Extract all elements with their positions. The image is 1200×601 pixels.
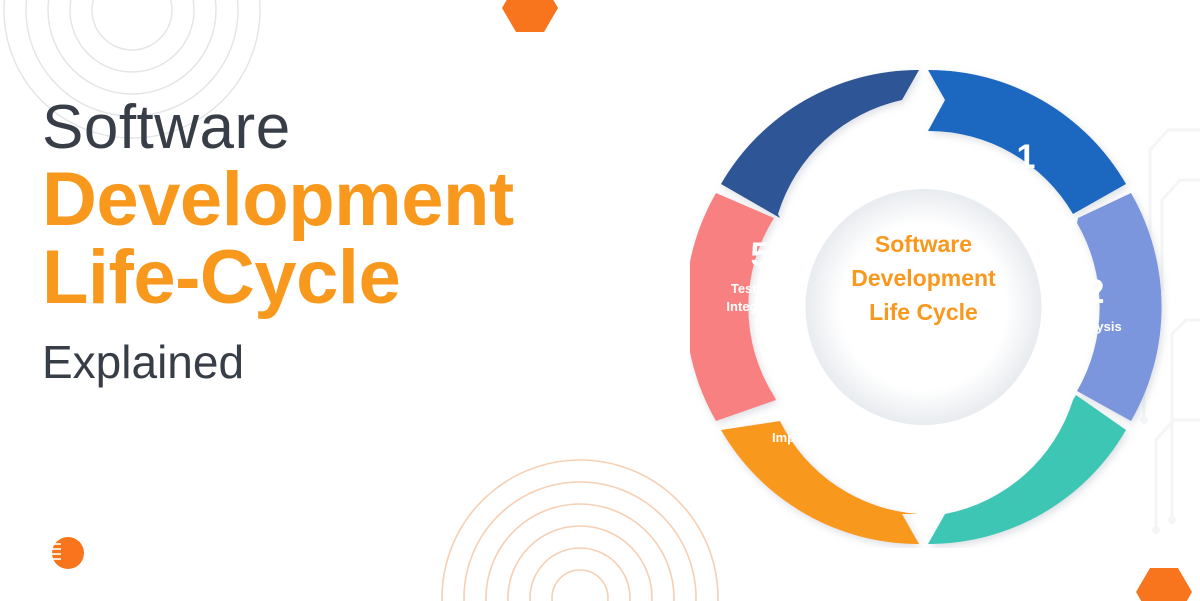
segment-planning-number: 1 [1017,138,1036,176]
segment-analysis-number: 2 [1086,273,1105,311]
sdlc-cycle-diagram: Software Development Life Cycle 1 Planni… [690,48,1170,548]
hub-title-line3: Life Cycle [869,299,978,325]
segment-implementation-number: 4 [811,384,830,422]
hub-title-line1: Software [875,231,972,257]
segment-maintenance-label: Maintenance [816,174,895,189]
banner-canvas: Software Development Life-Cycle Explaine… [0,0,1200,601]
concentric-rings-decoration-bottom [430,448,730,601]
headline-line-explained: Explained [42,337,702,388]
segment-testing-label: Testing & [731,281,789,296]
headline-line-software: Software [42,96,702,159]
headline-line-lifecycle: Life-Cycle [42,237,702,319]
hub-title-line2: Development [851,265,996,291]
dot-decoration-bottom-left [44,536,86,570]
segment-design-label: Design [966,462,1009,477]
segment-planning-label: Planning [999,184,1054,199]
segment-testing-number: 5 [751,236,770,274]
segment-testing-label2: Integration [726,299,793,314]
segment-implementation-label: Implementation [772,430,868,445]
segment-maintenance-number: 6 [846,128,865,166]
headline-block: Software Development Life-Cycle Explaine… [42,96,702,388]
segment-design-number: 3 [979,416,998,454]
segment-analysis-label: Analysis [1068,319,1121,334]
hexagon-decoration-top [502,0,558,32]
headline-line-development: Development [42,159,702,241]
hexagon-decoration-bottom-right [1136,568,1192,601]
